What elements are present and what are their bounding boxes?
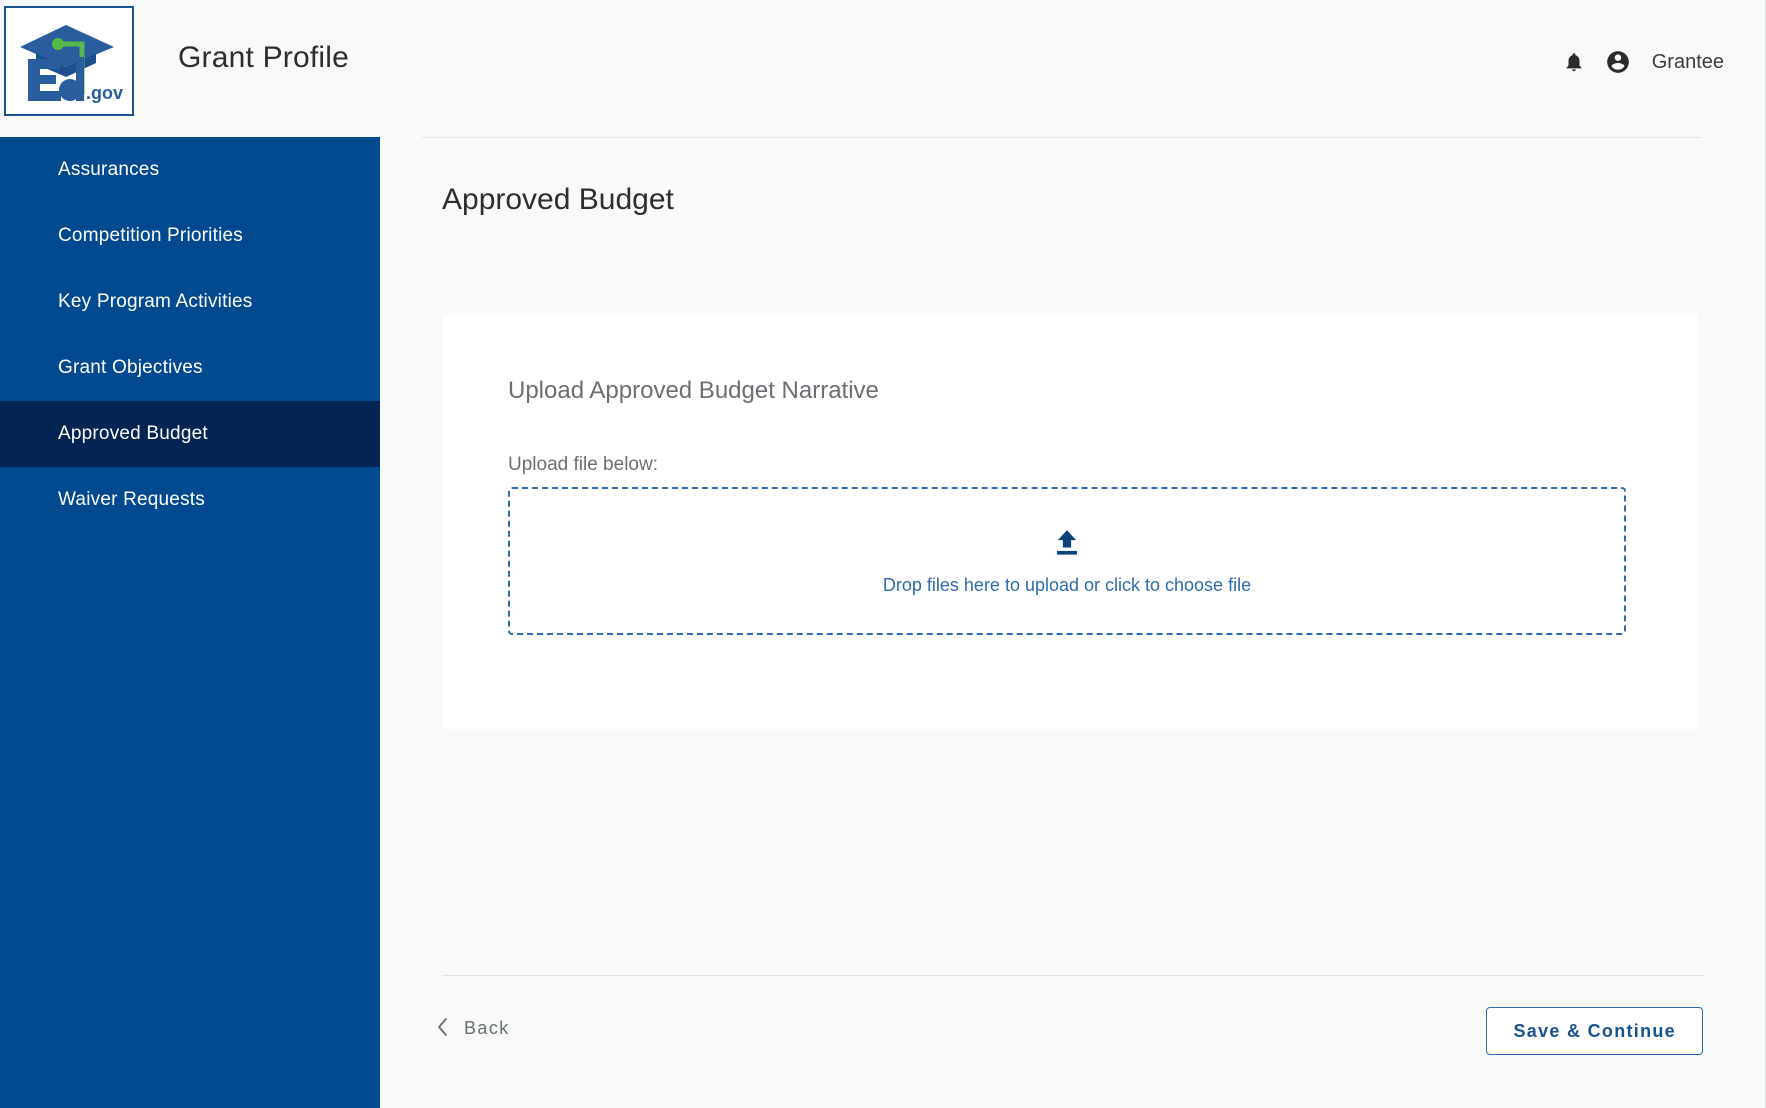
content-top-divider — [422, 137, 1702, 138]
footer-divider — [442, 975, 1704, 976]
sidebar-item-key-program-activities[interactable]: Key Program Activities — [0, 269, 380, 335]
sidebar-item-competition-priorities[interactable]: Competition Priorities — [0, 203, 380, 269]
account-circle-icon[interactable] — [1604, 48, 1632, 76]
upload-icon — [1050, 526, 1084, 565]
back-button[interactable]: Back — [410, 1007, 536, 1050]
sidebar-item-label: Grant Objectives — [58, 357, 203, 379]
sidebar-item-label: Assurances — [58, 159, 159, 181]
save-continue-button[interactable]: Save & Continue — [1486, 1007, 1703, 1055]
user-label: Grantee — [1652, 51, 1724, 74]
sidebar-item-label: Approved Budget — [58, 423, 208, 445]
svg-text:.gov: .gov — [86, 83, 123, 103]
sidebar-nav: Assurances Competition Priorities Key Pr… — [0, 137, 380, 1108]
chevron-left-icon — [436, 1017, 450, 1040]
sidebar-item-assurances[interactable]: Assurances — [0, 137, 380, 203]
ed-gov-logo[interactable]: .gov — [4, 6, 134, 116]
back-button-label: Back — [464, 1018, 510, 1039]
dropzone-text: Drop files here to upload or click to ch… — [883, 575, 1251, 596]
sidebar-item-waiver-requests[interactable]: Waiver Requests — [0, 467, 380, 533]
ed-gov-logo-icon: .gov — [14, 17, 124, 105]
main-content: Approved Budget Upload Approved Budget N… — [380, 137, 1766, 1108]
file-dropzone[interactable]: Drop files here to upload or click to ch… — [508, 487, 1626, 635]
bell-icon[interactable] — [1560, 48, 1588, 76]
sidebar-item-label: Key Program Activities — [58, 291, 252, 313]
sidebar-item-label: Waiver Requests — [58, 489, 205, 511]
upload-card: Upload Approved Budget Narrative Upload … — [443, 315, 1698, 729]
app-header: .gov Grant Profile Grantee — [0, 0, 1766, 137]
page-title: Approved Budget — [442, 183, 674, 217]
app-title: Grant Profile — [178, 41, 349, 75]
app-root: .gov Grant Profile Grantee Assurances Co… — [0, 0, 1766, 1108]
card-title: Upload Approved Budget Narrative — [508, 377, 879, 405]
header-actions: Grantee — [1560, 48, 1724, 76]
upload-field-label: Upload file below: — [508, 454, 658, 476]
sidebar-item-approved-budget[interactable]: Approved Budget — [0, 401, 380, 467]
sidebar-item-label: Competition Priorities — [58, 225, 243, 247]
sidebar-item-grant-objectives[interactable]: Grant Objectives — [0, 335, 380, 401]
